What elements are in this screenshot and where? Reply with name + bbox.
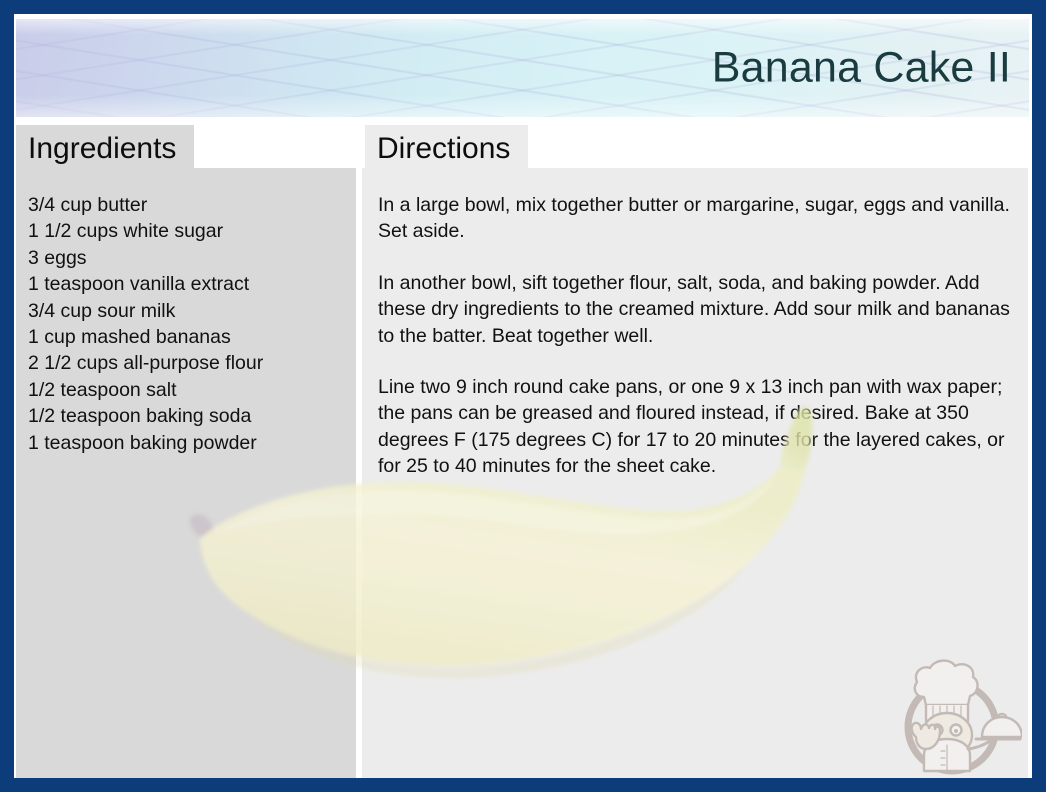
banner-bottom-highlight	[16, 95, 1029, 117]
direction-paragraph: In a large bowl, mix together butter or …	[378, 192, 1018, 245]
list-item: 3 eggs	[28, 245, 340, 271]
recipe-slide: Banana Cake II Ingredients 3/4 cup butte…	[0, 0, 1046, 792]
direction-paragraph: Line two 9 inch round cake pans, or one …	[378, 374, 1018, 480]
list-item: 1/2 teaspoon baking soda	[28, 403, 340, 429]
slide-canvas: Banana Cake II Ingredients 3/4 cup butte…	[14, 14, 1032, 778]
list-item: 3/4 cup sour milk	[28, 298, 340, 324]
page-title: Banana Cake II	[712, 47, 1011, 90]
list-item: 2 1/2 cups all-purpose flour	[28, 350, 340, 376]
title-banner: Banana Cake II	[16, 19, 1029, 117]
ingredients-list: 3/4 cup butter 1 1/2 cups white sugar 3 …	[28, 192, 340, 456]
list-item: 1 cup mashed bananas	[28, 324, 340, 350]
list-item: 1 1/2 cups white sugar	[28, 218, 340, 244]
directions-heading: Directions	[365, 125, 528, 173]
banner-top-highlight	[16, 19, 1029, 35]
directions-panel: In a large bowl, mix together butter or …	[362, 168, 1028, 778]
list-item: 1 teaspoon vanilla extract	[28, 271, 340, 297]
direction-paragraph: In another bowl, sift together flour, sa…	[378, 270, 1018, 349]
ingredients-panel: 3/4 cup butter 1 1/2 cups white sugar 3 …	[16, 168, 356, 778]
ingredients-heading: Ingredients	[16, 125, 194, 173]
list-item: 3/4 cup butter	[28, 192, 340, 218]
list-item: 1 teaspoon baking powder	[28, 430, 340, 456]
list-item: 1/2 teaspoon salt	[28, 377, 340, 403]
